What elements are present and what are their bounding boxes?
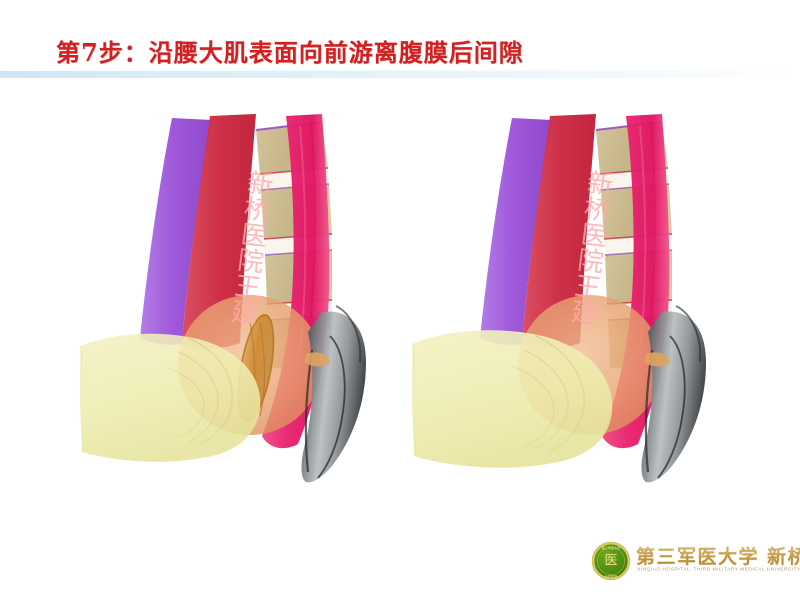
anatomy-figure-left — [60, 100, 420, 500]
svg-text:新桥医院: 新桥医院 — [605, 573, 617, 578]
page-title: 第7步：沿腰大肌表面向前游离腹膜后间隙 — [56, 33, 524, 68]
institution-name: 第三军医大学 新桥医院 — [636, 542, 800, 569]
illustration-panel-left: 新桥医院王建 — [60, 100, 420, 500]
svg-text:第三军医大学: 第三军医大学 — [602, 545, 621, 550]
illustration-panel-right: 新桥医院王建 — [400, 100, 760, 500]
institution-subtitle: XINQIAO HOSPITAL, THIRD MILITARY MEDICAL… — [637, 567, 800, 572]
institution-logo: 第三军医大学 新桥医院 医 第三军医大学 新桥医院 XINQIAO HOSPIT… — [592, 540, 792, 590]
emblem-core-glyph: 医 — [603, 553, 620, 570]
title-bar: 第7步：沿腰大肌表面向前游离腹膜后间隙 — [0, 0, 800, 80]
hospital-emblem-icon: 第三军医大学 新桥医院 医 — [592, 542, 630, 580]
slide-canvas: 第7步：沿腰大肌表面向前游离腹膜后间隙 — [0, 0, 800, 600]
title-divider — [0, 71, 800, 78]
anatomy-figure-right — [400, 100, 760, 500]
